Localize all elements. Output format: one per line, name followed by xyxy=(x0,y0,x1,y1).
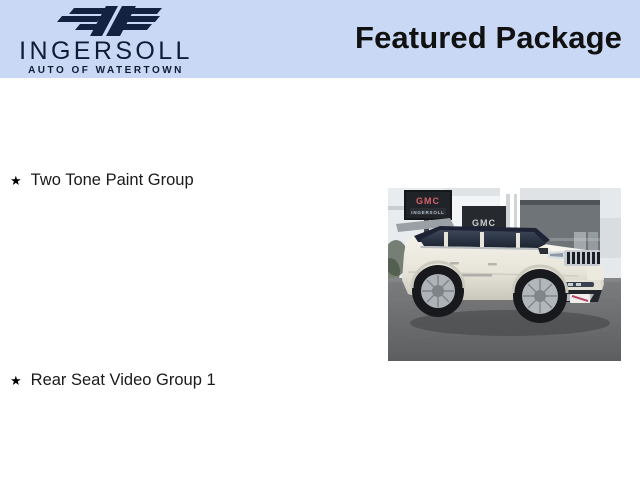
dealer-tagline: AUTO OF WATERTOWN xyxy=(8,65,204,77)
feature-label: Two Tone Paint Group xyxy=(31,170,194,190)
list-item: ★ Two Tone Paint Group xyxy=(10,170,194,190)
logo-underline-rule xyxy=(8,78,204,79)
svg-text:GMC: GMC xyxy=(416,196,440,206)
star-bullet-icon: ★ xyxy=(10,374,22,387)
dealer-wordmark: INGERSOLL xyxy=(8,38,204,65)
page-title: Featured Package xyxy=(355,20,622,56)
dealer-logo[interactable]: INGERSOLL AUTO OF WATERTOWN xyxy=(6,2,206,78)
vehicle-photo: GMC INGERSOLL GMC xyxy=(388,188,621,361)
list-item: ★ Rear Seat Video Group 1 xyxy=(10,370,216,390)
star-bullet-icon: ★ xyxy=(10,174,22,187)
svg-text:GMC: GMC xyxy=(472,218,496,228)
feature-label: Rear Seat Video Group 1 xyxy=(31,370,216,390)
feature-list: ★ Two Tone Paint Group ★ Rear Seat Video… xyxy=(0,80,380,480)
svg-text:INGERSOLL: INGERSOLL xyxy=(411,210,444,215)
page-header: INGERSOLL AUTO OF WATERTOWN Featured Pac… xyxy=(0,0,640,80)
ingersoll-wing-emblem-icon xyxy=(56,4,164,38)
